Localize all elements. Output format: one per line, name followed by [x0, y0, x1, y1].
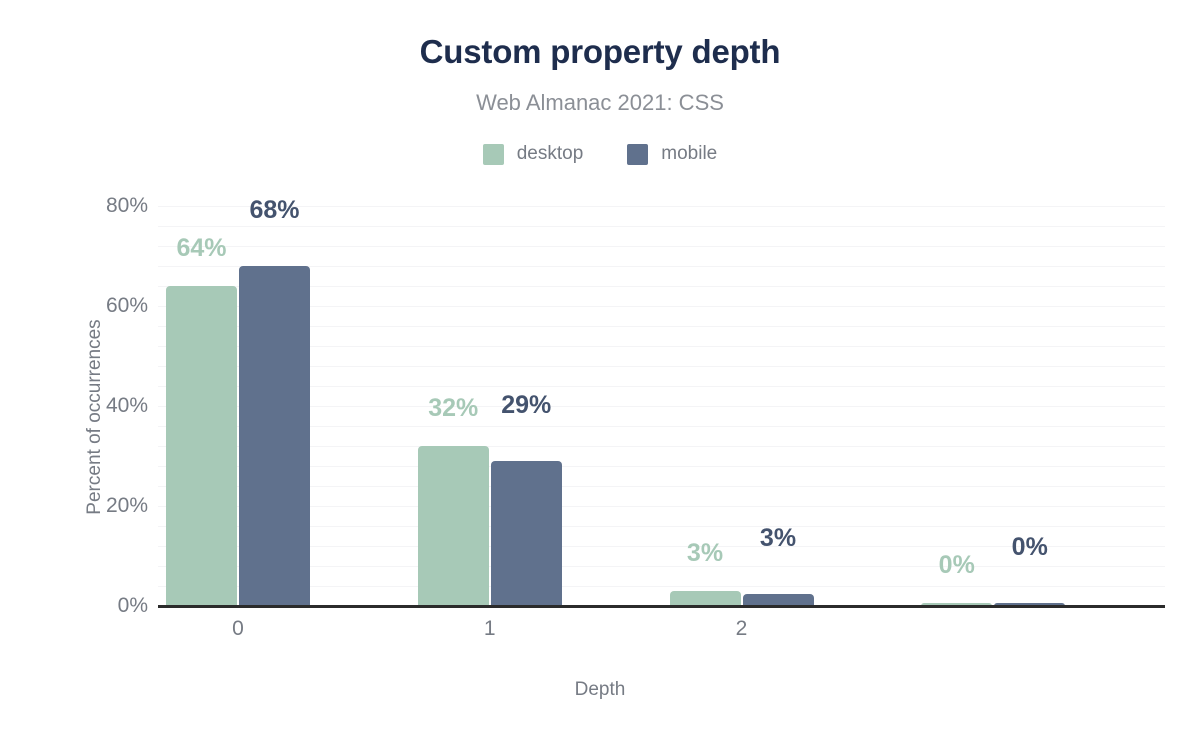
bar-value-label-mobile-0: 68% [239, 196, 310, 225]
gridline [158, 226, 1165, 227]
bar-mobile-1[interactable] [491, 461, 562, 606]
bar-value-label-desktop-2: 3% [670, 539, 741, 568]
bar-mobile-0[interactable] [239, 266, 310, 606]
y-axis-tick-label: 80% [18, 194, 148, 218]
y-axis-tick-label: 0% [18, 594, 148, 618]
bar-desktop-0[interactable] [166, 286, 237, 606]
legend-label: mobile [661, 143, 717, 165]
y-axis-title: Percent of occurrences [84, 267, 106, 567]
bar-value-label-desktop-3: 0% [921, 551, 992, 580]
y-axis-tick-label: 40% [18, 394, 148, 418]
legend-item-mobile[interactable]: mobile [627, 143, 717, 165]
y-axis-tick-label: 20% [18, 494, 148, 518]
legend-swatch-icon [627, 144, 648, 165]
x-axis-tick-label-1: 1 [484, 617, 496, 641]
x-axis-tick-label-2: 2 [736, 617, 748, 641]
bar-value-label-desktop-1: 32% [418, 394, 489, 423]
plot-area: 64%68%32%29%3%3%0%0% [158, 206, 1165, 606]
bar-value-label-mobile-2: 3% [743, 524, 814, 553]
bar-desktop-2[interactable] [670, 591, 741, 606]
x-axis-tick-label-0: 0 [232, 617, 244, 641]
bar-value-label-desktop-0: 64% [166, 234, 237, 263]
chart-legend: desktopmobile [0, 143, 1200, 165]
bar-value-label-mobile-3: 0% [994, 533, 1065, 562]
y-axis-tick-labels: 0%20%40%60%80% [0, 0, 148, 742]
x-axis-baseline [158, 605, 1165, 608]
legend-swatch-icon [483, 144, 504, 165]
gridline [158, 246, 1165, 247]
chart-title: Custom property depth [0, 33, 1200, 71]
legend-item-desktop[interactable]: desktop [483, 143, 584, 165]
y-axis-tick-label: 60% [18, 294, 148, 318]
bar-desktop-1[interactable] [418, 446, 489, 606]
chart-subtitle: Web Almanac 2021: CSS [0, 90, 1200, 116]
bar-value-label-mobile-1: 29% [491, 391, 562, 420]
bar-chart: Custom property depth Web Almanac 2021: … [0, 0, 1200, 742]
x-axis-title: Depth [0, 679, 1200, 701]
legend-label: desktop [517, 143, 584, 165]
